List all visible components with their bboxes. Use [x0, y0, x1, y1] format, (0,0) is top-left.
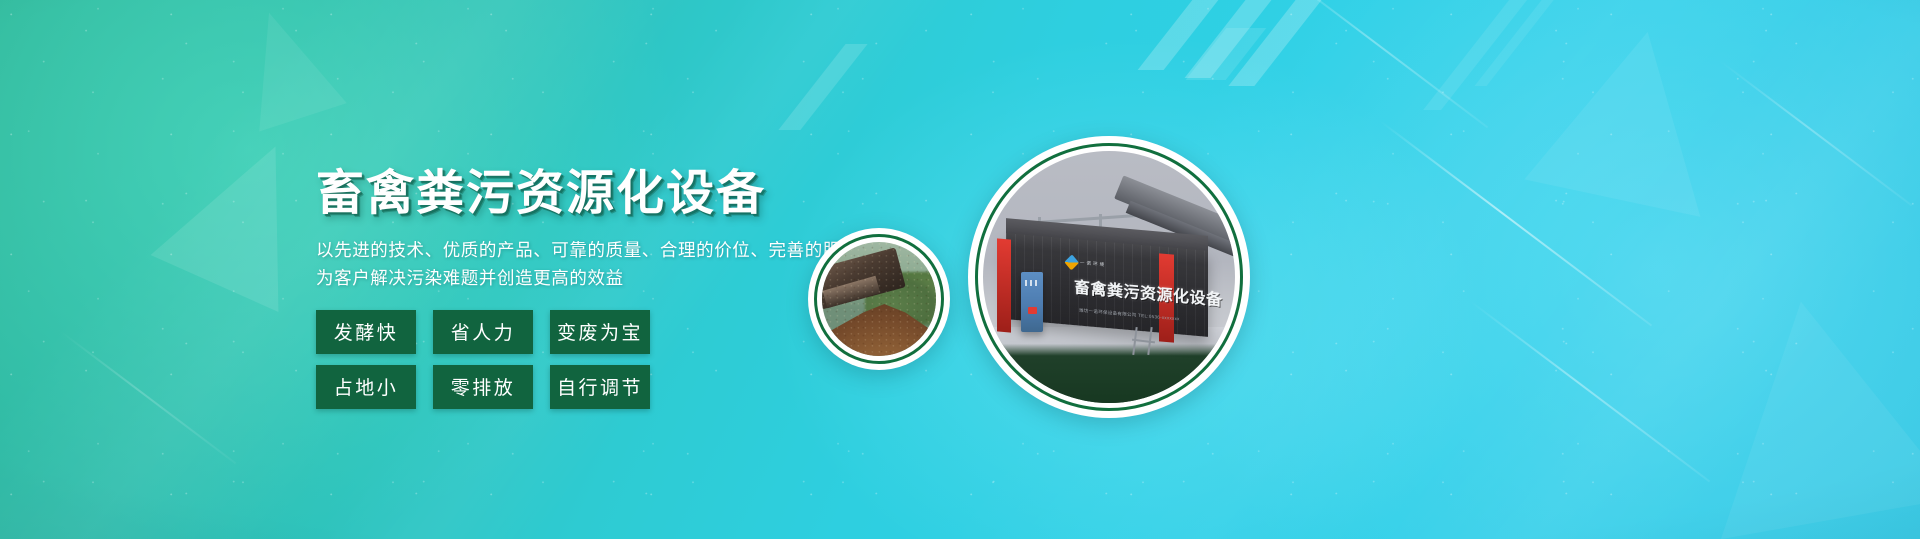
chevron-stripe-4 — [1186, 28, 1267, 80]
equipment-photo-circle[interactable]: 一 诺 环 境 畜禽粪污资源化设备 潍坊一诺环保设备有限公司 TEL:0536-… — [968, 136, 1250, 418]
equipment-cabinet-button — [1028, 307, 1037, 314]
hairline-5 — [1719, 60, 1912, 206]
diagonal-stripe-2 — [1423, 0, 1535, 110]
glow-right — [1160, 0, 1920, 539]
promo-banner: 畜禽粪污资源化设备 以先进的技术、优质的产品、可靠的质量、合理的价位、完善的服务… — [0, 0, 1920, 539]
equipment-red-pillar-left — [997, 239, 1011, 333]
compost-photo-ring — [814, 234, 944, 364]
equipment-render-photo: 一 诺 环 境 畜禽粪污资源化设备 潍坊一诺环保设备有限公司 TEL:0536-… — [983, 151, 1235, 403]
triangle-decor-3 — [1524, 13, 1735, 217]
hairline-4 — [59, 330, 236, 464]
vignette — [0, 0, 1920, 539]
hairline-3 — [1279, 0, 1488, 128]
background-decoration — [0, 0, 1920, 539]
banner-title: 畜禽粪污资源化设备 — [316, 166, 956, 222]
feature-tag-labor-saving[interactable]: 省人力 — [433, 310, 533, 354]
equipment-cabinet-indicators — [1025, 280, 1040, 286]
speckle-texture — [0, 0, 1920, 539]
compost-pile-photo — [822, 242, 936, 356]
chevron-stripe-2 — [1185, 0, 1272, 78]
compost-grain-texture — [822, 242, 936, 356]
feature-tag-zero-emission[interactable]: 零排放 — [433, 365, 533, 409]
chevron-stripe-1 — [1138, 0, 1219, 70]
hairline-2 — [1469, 300, 1710, 482]
compost-photo-circle[interactable] — [808, 228, 950, 370]
feature-tag-self-adjusting[interactable]: 自行调节 — [550, 365, 650, 409]
light-sweep-4 — [1256, 0, 1920, 539]
feature-tag-small-footprint[interactable]: 占地小 — [316, 365, 416, 409]
triangle-decor-4 — [1683, 281, 1920, 539]
diagonal-stripe-3 — [1474, 0, 1561, 86]
feature-tag-waste-to-treasure[interactable]: 变废为宝 — [550, 310, 650, 354]
equipment-floor — [983, 327, 1235, 403]
feature-tag-fast-fermentation[interactable]: 发酵快 — [316, 310, 416, 354]
triangle-decor-2 — [225, 0, 346, 132]
triangle-decor-1 — [151, 118, 340, 312]
diagonal-stripe-1 — [778, 44, 867, 130]
equipment-photo-ring: 一 诺 环 境 畜禽粪污资源化设备 潍坊一诺环保设备有限公司 TEL:0536-… — [975, 143, 1243, 411]
chevron-stripe-3 — [1228, 0, 1321, 86]
hairline-1 — [1379, 120, 1652, 326]
